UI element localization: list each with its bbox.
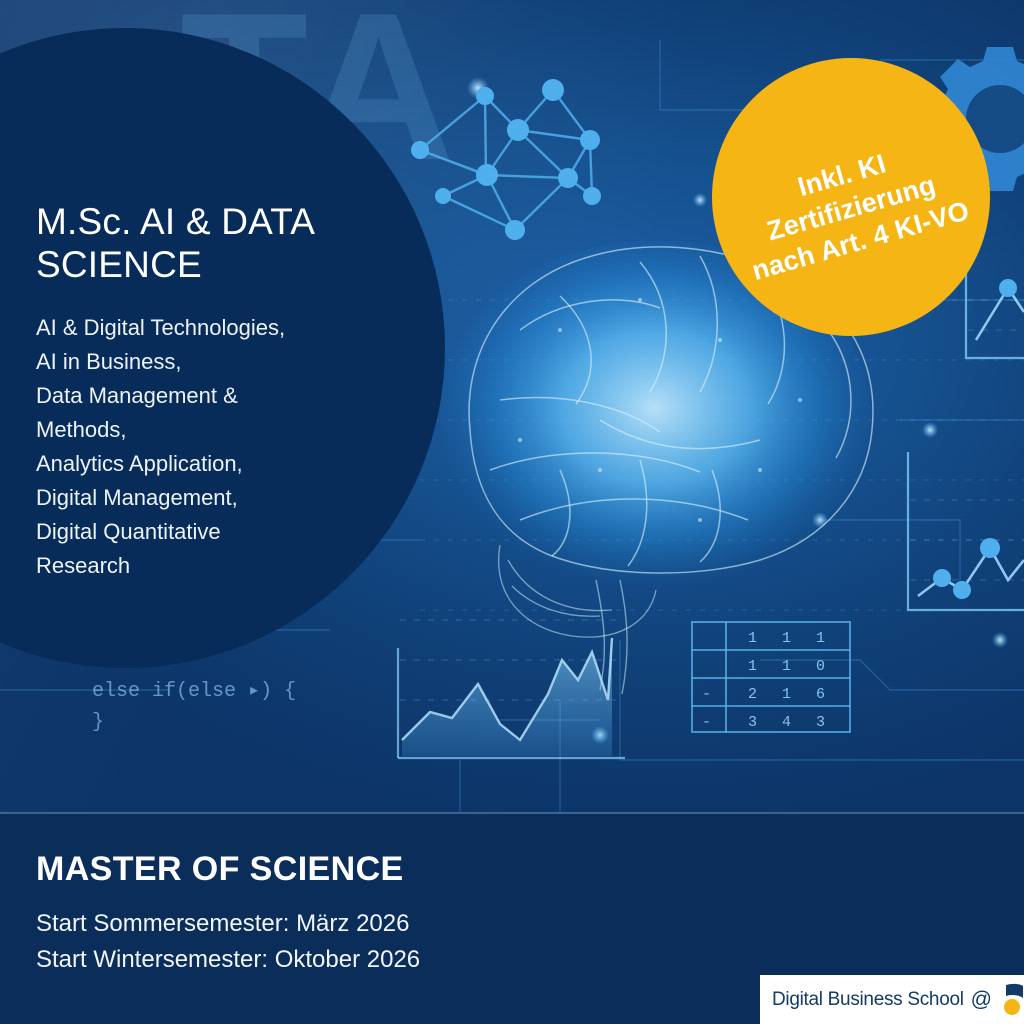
logo-school-name: Digital Business School [772, 989, 964, 1011]
svg-text:0: 0 [816, 658, 825, 675]
area-chart [398, 620, 625, 758]
svg-text:6: 6 [816, 686, 825, 703]
hfwu-logo-mark [999, 983, 1024, 1017]
svg-text:1: 1 [782, 630, 791, 647]
svg-text:3: 3 [748, 714, 757, 731]
matrix-values: 111 110 -216 -343 [702, 630, 825, 731]
matrix-table [692, 622, 850, 732]
module-list: AI & Digital Technologies, AI in Busines… [36, 311, 406, 584]
svg-text:3: 3 [816, 714, 825, 731]
page-title: M.Sc. AI & DATA SCIENCE [36, 200, 406, 287]
neural-network-graph [420, 90, 592, 230]
svg-text:1: 1 [816, 630, 825, 647]
line-chart-lower [908, 452, 1024, 610]
poster-canvas: TA E [0, 0, 1024, 1024]
line-chart-upper [966, 272, 1024, 358]
logo-lockup: Digital Business School @ HfWU [760, 975, 1024, 1024]
certification-badge-text: Inkl. KI Zertifizierung nach Art. 4 KI-V… [729, 128, 973, 288]
svg-text:-: - [702, 686, 711, 703]
svg-text:1: 1 [782, 658, 791, 675]
certification-badge: Inkl. KI Zertifizierung nach Art. 4 KI-V… [712, 58, 990, 336]
code-snippet: else if(else ▸) { } [92, 676, 296, 738]
logo-at-symbol: @ [971, 988, 992, 1012]
svg-text:-: - [702, 714, 711, 731]
svg-text:2: 2 [748, 686, 757, 703]
degree-title: MASTER OF SCIENCE [36, 850, 404, 889]
svg-text:1: 1 [748, 630, 757, 647]
network-nodes [411, 79, 601, 240]
hero-section: TA E [0, 0, 1024, 812]
svg-text:1: 1 [748, 658, 757, 675]
hero-copy: M.Sc. AI & DATA SCIENCE AI & Digital Tec… [36, 200, 406, 583]
start-dates: Start Sommersemester: März 2026 Start Wi… [36, 906, 420, 979]
svg-text:4: 4 [782, 714, 791, 731]
svg-text:1: 1 [782, 686, 791, 703]
